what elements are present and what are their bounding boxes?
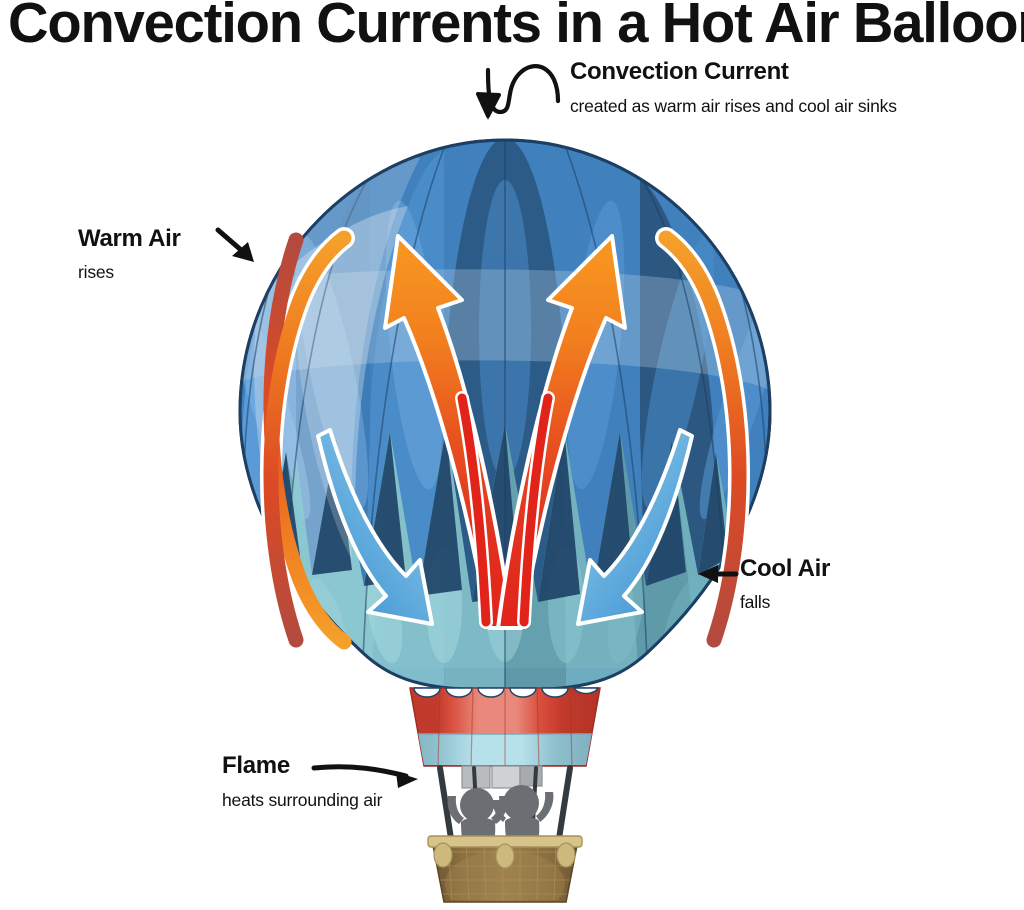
balloon-illustration: [0, 0, 1024, 910]
flame-label-heading: Flame: [222, 752, 290, 780]
balloon-skirt: [404, 686, 608, 768]
diagram-canvas: Convection Currents in a Hot Air Balloon…: [0, 0, 1024, 910]
flame-label-sub: heats surrounding air: [222, 790, 382, 811]
warm-air-label-heading: Warm Air: [78, 225, 181, 253]
cool-air-label-heading: Cool Air: [740, 555, 830, 583]
page-title: Convection Currents in a Hot Air Balloon: [8, 0, 1005, 54]
squiggle-arrow-down-icon: [477, 66, 558, 120]
cool-air-label-sub: falls: [740, 592, 770, 613]
convection-current-label-sub: created as warm air rises and cool air s…: [570, 96, 897, 117]
convection-current-label-heading: Convection Current: [570, 58, 789, 86]
balloon-basket: [428, 836, 582, 910]
warm-air-label-sub: rises: [78, 262, 114, 283]
arrow-down-right-icon: [218, 230, 254, 262]
arrow-right-icon: [314, 767, 418, 788]
